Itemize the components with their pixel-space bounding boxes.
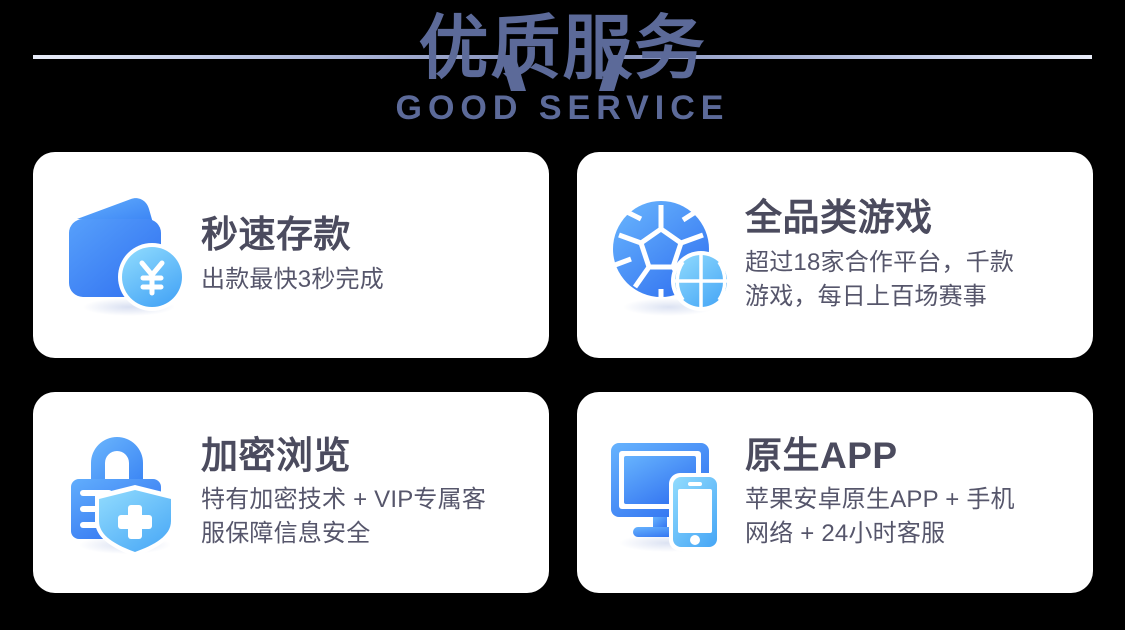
card-subtitle-line: 超过18家合作平台，千款 — [745, 246, 1079, 280]
card-subtitle-line: 游戏，每日上百场赛事 — [745, 280, 1079, 314]
card-subtitle: 苹果安卓原生APP + 手机 网络 + 24小时客服 — [745, 483, 1079, 551]
feature-card-deposit[interactable]: 秒速存款 出款最快3秒完成 — [33, 152, 549, 358]
feature-card-text: 全品类游戏 超过18家合作平台，千款 游戏，每日上百场赛事 — [739, 196, 1079, 314]
feature-card-text: 秒速存款 出款最快3秒完成 — [195, 213, 535, 297]
card-subtitle-line: 特有加密技术 + VIP专属客 — [201, 483, 535, 517]
card-title: 原生APP — [745, 434, 1079, 478]
feature-card-games[interactable]: 全品类游戏 超过18家合作平台，千款 游戏，每日上百场赛事 — [577, 152, 1093, 358]
card-subtitle-line: 苹果安卓原生APP + 手机 — [745, 483, 1079, 517]
soccer-basketball-icon — [599, 185, 739, 325]
monitor-phone-icon — [599, 423, 739, 563]
page-subtitle: GOOD SERVICE — [0, 87, 1125, 128]
wallet-yen-icon — [55, 185, 195, 325]
lock-shield-icon — [55, 423, 195, 563]
card-subtitle: 特有加密技术 + VIP专属客 服保障信息安全 — [201, 483, 535, 551]
card-subtitle-line: 出款最快3秒完成 — [201, 263, 535, 297]
card-subtitle-line: 网络 + 24小时客服 — [745, 517, 1079, 551]
card-subtitle-line: 服保障信息安全 — [201, 517, 535, 551]
feature-card-encryption[interactable]: 加密浏览 特有加密技术 + VIP专属客 服保障信息安全 — [33, 392, 549, 593]
card-title: 加密浏览 — [201, 434, 535, 478]
feature-card-text: 原生APP 苹果安卓原生APP + 手机 网络 + 24小时客服 — [739, 434, 1079, 552]
card-title: 秒速存款 — [201, 213, 535, 257]
feature-card-grid: 秒速存款 出款最快3秒完成 — [33, 152, 1093, 593]
header-title-zone: 优质服务 GOOD SERVICE — [0, 0, 1125, 128]
card-title: 全品类游戏 — [745, 196, 1079, 240]
page-title: 优质服务 — [0, 0, 1125, 87]
feature-card-text: 加密浏览 特有加密技术 + VIP专属客 服保障信息安全 — [195, 434, 535, 552]
page-header: 优质服务 GOOD SERVICE — [0, 0, 1125, 140]
card-subtitle: 出款最快3秒完成 — [201, 263, 535, 297]
card-subtitle: 超过18家合作平台，千款 游戏，每日上百场赛事 — [745, 246, 1079, 314]
feature-card-native-app[interactable]: 原生APP 苹果安卓原生APP + 手机 网络 + 24小时客服 — [577, 392, 1093, 593]
